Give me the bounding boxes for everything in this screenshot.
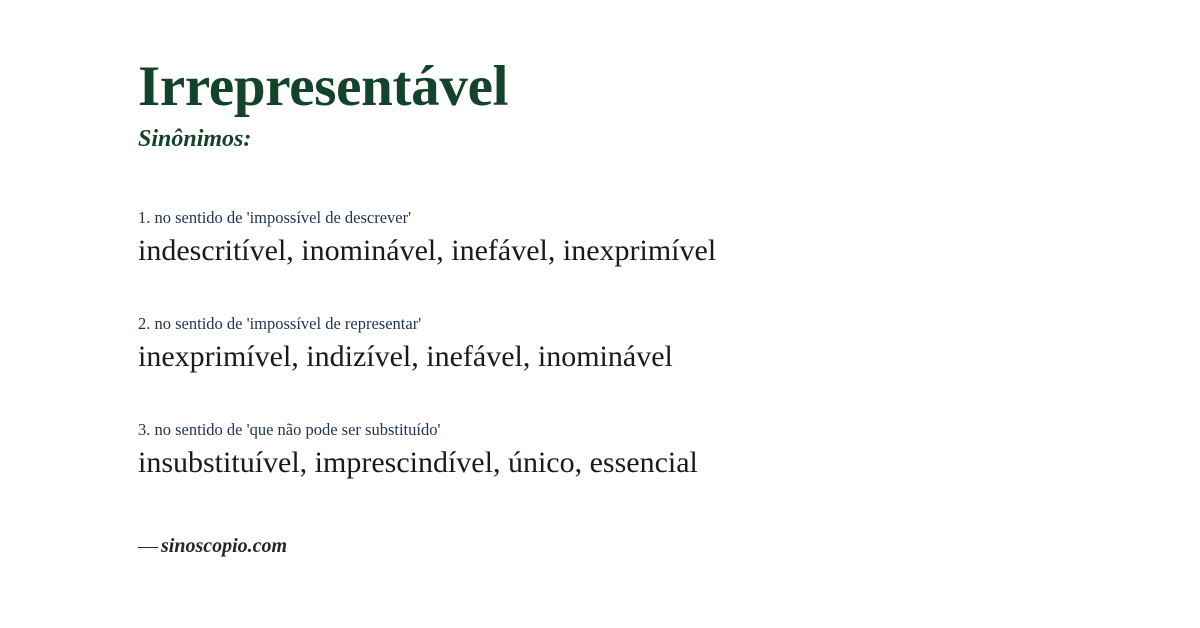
sense-entry-1: 1. no sentido de 'impossível de descreve…: [138, 208, 1140, 270]
sense-synonyms-3: insubstituível, imprescindível, único, e…: [138, 444, 1140, 482]
card-footer: —sinoscopio.com: [138, 534, 287, 558]
attribution: —sinoscopio.com: [138, 534, 287, 558]
em-dash-icon: —: [138, 535, 161, 557]
sense-label-3: 3. no sentido de 'que não pode ser subst…: [138, 420, 1140, 441]
synonym-card: Irrepresentável Sinônimos: 1. no sentido…: [0, 0, 1200, 628]
sense-entry-3: 3. no sentido de 'que não pode ser subst…: [138, 420, 1140, 482]
sense-label-2: 2. no sentido de 'impossível de represen…: [138, 314, 1140, 335]
sense-label-1: 1. no sentido de 'impossível de descreve…: [138, 208, 1140, 229]
entry-header: Irrepresentável Sinônimos:: [138, 58, 1140, 154]
synonyms-subtitle: Sinônimos:: [138, 125, 1140, 154]
page-title: Irrepresentável: [138, 58, 1140, 116]
sense-entry-2: 2. no sentido de 'impossível de represen…: [138, 314, 1140, 376]
sense-synonyms-2: inexprimível, indizível, inefável, inomi…: [138, 338, 1140, 376]
sense-synonyms-1: indescritível, inominável, inefável, ine…: [138, 232, 1140, 270]
source-name: sinoscopio.com: [161, 535, 287, 557]
sense-list: 1. no sentido de 'impossível de descreve…: [138, 208, 1140, 482]
